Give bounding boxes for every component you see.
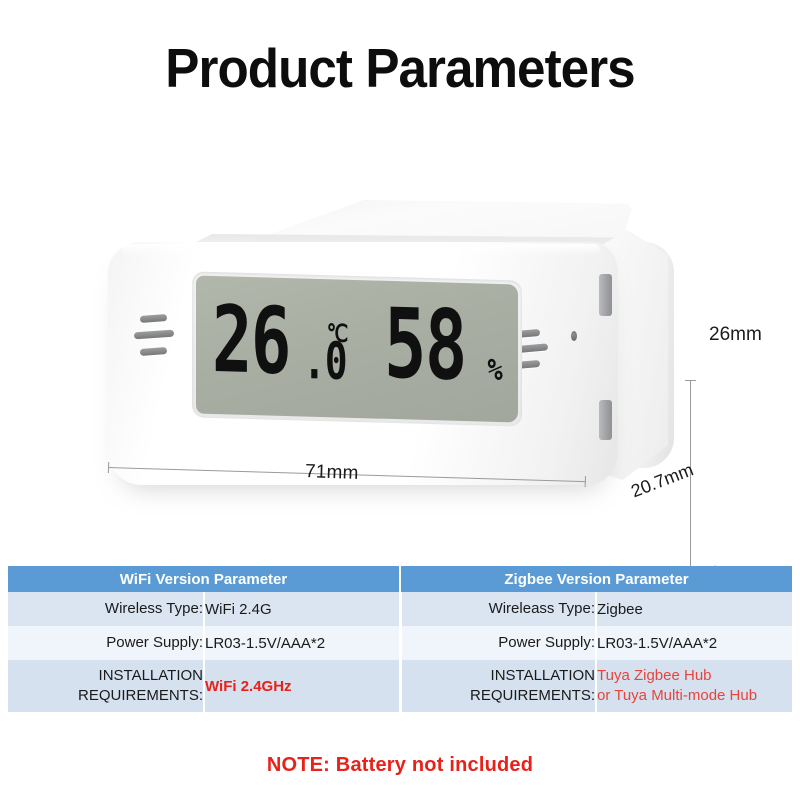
zigbee-hub-line-2: or Tuya Multi-mode Hub [597,686,792,706]
device-body: 26 .0 ℃ 58 % [108,200,618,485]
device-side-tab-top [599,274,612,316]
wifi-installation-label: INSTALLATION REQUIREMENTS: [8,660,204,712]
zigbee-power-supply-value: LR03-1.5V/AAA*2 [596,626,792,660]
table-row: Power Supply: LR03-1.5V/AAA*2 Power Supp… [8,626,792,660]
temperature-value: 26 [212,301,290,382]
humidity-readout: 58 % [384,313,504,390]
zigbee-installation-value: Tuya Zigbee Hub or Tuya Multi-mode Hub [596,660,792,712]
table-row: Wireless Type: WiFi 2.4G Wireleass Type:… [8,592,792,626]
zigbee-installation-label: INSTALLATION REQUIREMENTS: [400,660,596,712]
zigbee-power-supply-label: Power Supply: [400,626,596,660]
wifi-power-supply-value: LR03-1.5V/AAA*2 [204,626,400,660]
wifi-wireless-type-value: WiFi 2.4G [204,592,400,626]
device-side-tab-bottom [599,400,612,440]
spec-table: WiFi Version Parameter Zigbee Version Pa… [8,566,792,712]
table-header-row: WiFi Version Parameter Zigbee Version Pa… [8,566,792,592]
sensor-pinhole-icon [571,331,577,341]
page-title: Product Parameters [28,36,772,100]
wifi-power-supply-label: Power Supply: [8,626,204,660]
temperature-readout: 26 .0 ℃ [212,310,356,385]
header-wifi-version: WiFi Version Parameter [8,566,400,592]
celsius-unit-icon: ℃ [327,319,349,348]
wifi-installation-value: WiFi 2.4GHz [204,660,400,712]
zigbee-wireless-type-label: Wireleass Type: [400,592,596,626]
zigbee-hub-line-1: Tuya Zigbee Hub [597,666,792,686]
percent-unit-icon: % [487,353,502,388]
table-row: INSTALLATION REQUIREMENTS: WiFi 2.4GHz I… [8,660,792,712]
battery-note: NOTE: Battery not included [0,754,800,777]
lcd-screen: 26 .0 ℃ 58 % [196,276,518,423]
header-zigbee-version: Zigbee Version Parameter [400,566,792,592]
wifi-wireless-type-label: Wireless Type: [8,592,204,626]
humidity-value: 58 [384,304,466,389]
zigbee-wireless-type-value: Zigbee [596,592,792,626]
height-dimension-label: 26mm [709,324,762,346]
width-dimension-label: 71mm [305,461,359,485]
